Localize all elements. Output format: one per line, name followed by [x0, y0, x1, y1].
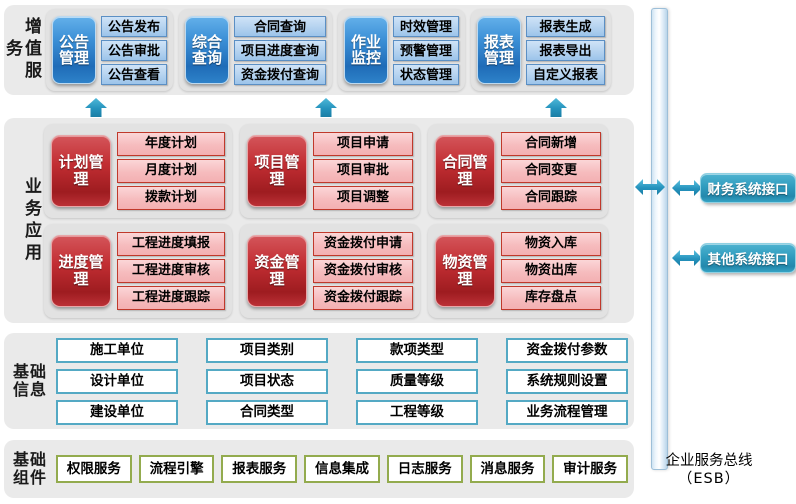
- component-log-service[interactable]: 日志服务: [387, 455, 463, 483]
- item-custom-report[interactable]: 自定义报表: [526, 64, 605, 85]
- item-progress-review[interactable]: 工程进度审核: [117, 259, 225, 283]
- component-audit-service[interactable]: 审计服务: [552, 455, 628, 483]
- item-announcement-approve[interactable]: 公告审批: [101, 40, 167, 61]
- item-fund-tracking[interactable]: 资金拨付跟踪: [313, 286, 413, 310]
- module-items-project: 项目申请 项目审批 项目调整: [313, 132, 413, 210]
- basic-item-development-unit[interactable]: 建设单位: [56, 400, 178, 425]
- item-progress-tracking[interactable]: 工程进度跟踪: [117, 286, 225, 310]
- basic-information-grid: 施工单位 项目类别 款项类型 资金拨付参数 设计单位 项目状态 质量等级 系统规…: [56, 338, 628, 425]
- basic-item-design-unit[interactable]: 设计单位: [56, 369, 178, 394]
- up-arrow-icon-3: [543, 97, 569, 119]
- item-announcement-publish[interactable]: 公告发布: [101, 16, 167, 37]
- layer-label-basic-information-text: 基础信息: [13, 362, 47, 399]
- component-message-service[interactable]: 消息服务: [470, 455, 546, 483]
- layer-label-basic-information: 基础信息: [10, 363, 50, 400]
- item-warning-management[interactable]: 预警管理: [393, 40, 459, 61]
- component-permission-service[interactable]: 权限服务: [56, 455, 132, 483]
- item-annual-plan[interactable]: 年度计划: [117, 132, 225, 156]
- item-material-inbound[interactable]: 物资入库: [501, 232, 601, 256]
- esb-caption-main: 企业服务总线: [634, 452, 784, 470]
- esb-caption-sub: （ESB）: [634, 470, 784, 488]
- module-group-report: 报表管理 报表生成 报表导出 自定义报表: [471, 9, 611, 91]
- layer-label-basic-components: 基础组件: [10, 451, 50, 488]
- enterprise-service-bus: [651, 8, 668, 470]
- item-progress-report[interactable]: 工程进度填报: [117, 232, 225, 256]
- item-monthly-plan[interactable]: 月度计划: [117, 159, 225, 183]
- item-fund-review[interactable]: 资金拨付审核: [313, 259, 413, 283]
- layer-basic-information: 基础信息 施工单位 项目类别 款项类型 资金拨付参数 设计单位 项目状态 质量等…: [4, 333, 634, 429]
- module-comprehensive-query[interactable]: 综合查询: [185, 16, 229, 84]
- basic-item-quality-grade[interactable]: 质量等级: [356, 369, 478, 394]
- module-items-announcement: 公告发布 公告审批 公告查看: [101, 16, 167, 85]
- item-contract-add[interactable]: 合同新增: [501, 132, 601, 156]
- module-group-contract: 合同管理 合同新增 合同变更 合同跟踪: [428, 124, 608, 218]
- module-group-material: 物资管理 物资入库 物资出库 库存盘点: [428, 224, 608, 318]
- module-plan-management[interactable]: 计划管理: [51, 135, 111, 207]
- business-groups: 计划管理 年度计划 月度计划 拨款计划 项目管理 项目申请 项目审批 项目调整: [44, 124, 608, 318]
- component-process-engine[interactable]: 流程引擎: [139, 455, 215, 483]
- basic-item-business-process-management[interactable]: 业务流程管理: [506, 400, 628, 425]
- basic-item-engineering-grade[interactable]: 工程等级: [356, 400, 478, 425]
- module-group-plan: 计划管理 年度计划 月度计划 拨款计划: [44, 124, 232, 218]
- item-inventory-count[interactable]: 库存盘点: [501, 286, 601, 310]
- module-items-monitoring: 时效管理 预警管理 状态管理: [393, 16, 459, 85]
- up-arrow-icon-2: [313, 97, 339, 119]
- module-group-progress: 进度管理 工程进度填报 工程进度审核 工程进度跟踪: [44, 224, 232, 318]
- item-report-generate[interactable]: 报表生成: [526, 16, 605, 37]
- bus-connector-icon: [634, 178, 666, 196]
- basic-item-project-category[interactable]: 项目类别: [206, 338, 328, 363]
- item-project-approval[interactable]: 项目审批: [313, 159, 413, 183]
- item-contract-query[interactable]: 合同查询: [234, 16, 326, 37]
- basic-item-contract-type[interactable]: 合同类型: [206, 400, 328, 425]
- business-row-2: 进度管理 工程进度填报 工程进度审核 工程进度跟踪 资金管理 资金拨付申请 资金…: [44, 224, 608, 318]
- module-group-fund: 资金管理 资金拨付申请 资金拨付审核 资金拨付跟踪: [240, 224, 420, 318]
- item-material-outbound[interactable]: 物资出库: [501, 259, 601, 283]
- layer-label-business-application: 业务应用: [10, 177, 40, 265]
- module-contract-management[interactable]: 合同管理: [435, 135, 495, 207]
- item-timeliness-management[interactable]: 时效管理: [393, 16, 459, 37]
- module-items-fund: 资金拨付申请 资金拨付审核 资金拨付跟踪: [313, 232, 413, 310]
- interface-finance-system[interactable]: 财务系统接口: [700, 173, 796, 203]
- item-project-adjustment[interactable]: 项目调整: [313, 186, 413, 210]
- module-progress-management[interactable]: 进度管理: [51, 235, 111, 307]
- architecture-diagram: 增值服务 公告管理 公告发布 公告审批 公告查看 综合查询 合同查询 项目进度查…: [0, 0, 796, 504]
- basic-components-row: 权限服务 流程引擎 报表服务 信息集成 日志服务 消息服务 审计服务: [56, 455, 628, 483]
- layer-value-added-services: 增值服务 公告管理 公告发布 公告审批 公告查看 综合查询 合同查询 项目进度查…: [4, 5, 634, 95]
- layer-basic-components: 基础组件 权限服务 流程引擎 报表服务 信息集成 日志服务 消息服务 审计服务: [4, 440, 634, 498]
- item-project-application[interactable]: 项目申请: [313, 132, 413, 156]
- double-arrow-icon-finance: [672, 179, 702, 197]
- double-arrow-icon-other: [672, 249, 702, 267]
- item-fund-application[interactable]: 资金拨付申请: [313, 232, 413, 256]
- item-contract-tracking[interactable]: 合同跟踪: [501, 186, 601, 210]
- module-items-query: 合同查询 项目进度查询 资金拨付查询: [234, 16, 326, 85]
- module-fund-management[interactable]: 资金管理: [247, 235, 307, 307]
- module-project-management[interactable]: 项目管理: [247, 135, 307, 207]
- module-items-progress: 工程进度填报 工程进度审核 工程进度跟踪: [117, 232, 225, 310]
- layer-business-application: 业务应用 计划管理 年度计划 月度计划 拨款计划 项目管理 项目申请 项目审批: [4, 118, 634, 323]
- item-project-progress-query[interactable]: 项目进度查询: [234, 40, 326, 61]
- module-items-material: 物资入库 物资出库 库存盘点: [501, 232, 601, 310]
- layer-label-value-added: 增值服务: [10, 9, 40, 91]
- module-items-plan: 年度计划 月度计划 拨款计划: [117, 132, 225, 210]
- module-group-announcement: 公告管理 公告发布 公告审批 公告查看: [46, 9, 173, 91]
- component-information-integration[interactable]: 信息集成: [304, 455, 380, 483]
- module-group-project: 项目管理 项目申请 项目审批 项目调整: [240, 124, 420, 218]
- component-report-service[interactable]: 报表服务: [221, 455, 297, 483]
- basic-item-construction-unit[interactable]: 施工单位: [56, 338, 178, 363]
- item-announcement-view[interactable]: 公告查看: [101, 64, 167, 85]
- basic-item-fund-allocation-params[interactable]: 资金拨付参数: [506, 338, 628, 363]
- interface-other-system[interactable]: 其他系统接口: [700, 243, 796, 273]
- layer-label-basic-components-text: 基础组件: [13, 450, 47, 487]
- module-group-monitoring: 作业监控 时效管理 预警管理 状态管理: [338, 9, 465, 91]
- up-arrow-icon-1: [83, 97, 109, 119]
- business-row-1: 计划管理 年度计划 月度计划 拨款计划 项目管理 项目申请 项目审批 项目调整: [44, 124, 608, 218]
- module-items-report: 报表生成 报表导出 自定义报表: [526, 16, 605, 85]
- item-report-export[interactable]: 报表导出: [526, 40, 605, 61]
- basic-item-system-rule-settings[interactable]: 系统规则设置: [506, 369, 628, 394]
- item-contract-change[interactable]: 合同变更: [501, 159, 601, 183]
- item-appropriation-plan[interactable]: 拨款计划: [117, 186, 225, 210]
- item-status-management[interactable]: 状态管理: [393, 64, 459, 85]
- module-material-management[interactable]: 物资管理: [435, 235, 495, 307]
- item-fund-allocation-query[interactable]: 资金拨付查询: [234, 64, 326, 85]
- module-items-contract: 合同新增 合同变更 合同跟踪: [501, 132, 601, 210]
- module-report-management[interactable]: 报表管理: [477, 16, 521, 84]
- basic-item-project-status[interactable]: 项目状态: [206, 369, 328, 394]
- esb-caption: 企业服务总线 （ESB）: [634, 452, 784, 488]
- basic-item-payment-type[interactable]: 款项类型: [356, 338, 478, 363]
- module-announcement-management[interactable]: 公告管理: [52, 16, 96, 84]
- module-group-query: 综合查询 合同查询 项目进度查询 资金拨付查询: [179, 9, 332, 91]
- module-job-monitoring[interactable]: 作业监控: [344, 16, 388, 84]
